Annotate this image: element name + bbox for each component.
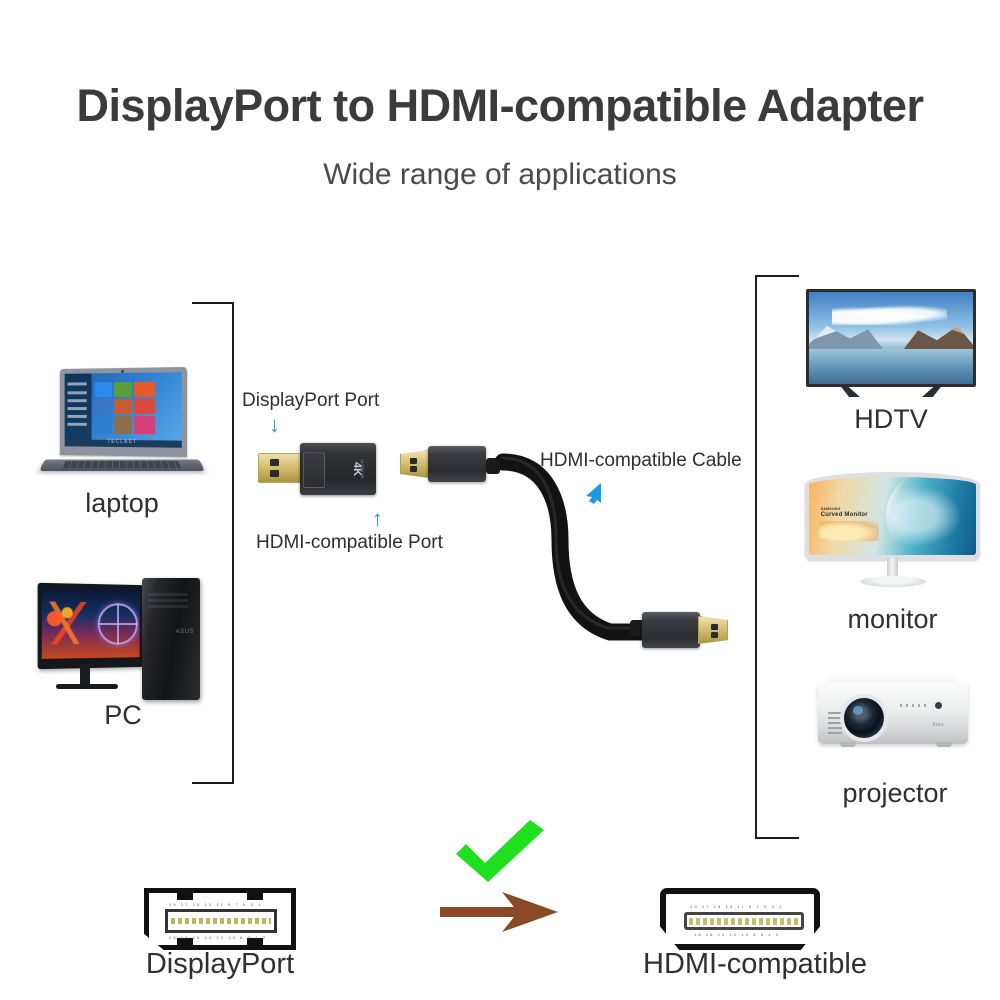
hdmi-plug-strain-relief-upper bbox=[486, 458, 500, 474]
projector-image: data bbox=[818, 672, 970, 758]
hdmi-port-up-arrow-icon: ↑ bbox=[372, 508, 383, 530]
dp-port-down-arrow-icon: ↓ bbox=[269, 414, 280, 436]
hdmi-bottom-pin-numbers: 18 16 14 12 10 8 6 4 2 bbox=[694, 932, 780, 937]
curved-monitor-image: SAMSUNG Curved Monitor bbox=[805, 472, 980, 590]
curved-monitor-screen-brand: SAMSUNG Curved Monitor bbox=[821, 507, 868, 520]
hdtv-screen-clouds bbox=[832, 305, 947, 325]
projector-body: data bbox=[818, 682, 968, 744]
adapter-body: 4K ULTRA HD bbox=[300, 443, 376, 495]
curved-monitor-screen: SAMSUNG Curved Monitor bbox=[809, 477, 976, 555]
laptop-start-tiles bbox=[94, 382, 155, 434]
laptop-image: TECLAST bbox=[42, 368, 202, 488]
projector-ir-sensor-icon bbox=[935, 702, 942, 709]
pc-screen-coaster bbox=[44, 601, 92, 644]
hdmi-plug-gold-contacts-lower bbox=[698, 616, 728, 644]
laptop-lid: TECLAST bbox=[60, 367, 187, 457]
adapter-displayport-male-plug bbox=[258, 453, 304, 483]
projector-indicator-leds bbox=[900, 704, 928, 707]
pc-monitor bbox=[38, 583, 144, 669]
pc-tower: ASUS bbox=[142, 578, 200, 700]
monitor-label: monitor bbox=[805, 604, 980, 635]
pc-label: PC bbox=[38, 700, 208, 731]
displayport-pins bbox=[171, 918, 271, 924]
laptop-keyboard-base bbox=[39, 459, 205, 471]
curved-monitor-screen-sunset bbox=[819, 521, 879, 541]
projector-foot-right bbox=[936, 742, 952, 747]
pc-image: ASUS bbox=[38, 578, 208, 703]
hdtv-screen-lake bbox=[809, 349, 973, 384]
laptop-start-menu-sidebar bbox=[65, 373, 92, 440]
displayport-pin-housing bbox=[165, 909, 277, 933]
dp-notch-top-left bbox=[177, 893, 193, 900]
hdmi-top-pin-numbers: 19 17 15 13 11 9 7 5 3 1 bbox=[690, 904, 783, 909]
hdtv-screen-mountain-left bbox=[809, 323, 884, 351]
laptop-label: laptop bbox=[42, 488, 202, 519]
hdmi-pin-housing bbox=[684, 912, 804, 930]
hdmi-cable-label: HDMI-compatible Cable bbox=[540, 450, 742, 472]
hdmi-port-label: HDMI-compatible Port bbox=[256, 532, 443, 554]
projector-foot-left bbox=[840, 742, 856, 747]
projector-label: projector bbox=[800, 778, 990, 809]
curved-monitor-brand-line1: SAMSUNG bbox=[821, 507, 868, 512]
pc-screen-ferris-wheel bbox=[98, 603, 138, 645]
projector-brand: data bbox=[933, 722, 944, 728]
displayport-connector-shape: 19 17 15 13 11 9 7 5 3 1 20 18 16 14 12 … bbox=[144, 888, 296, 950]
curved-monitor-foot bbox=[860, 576, 926, 587]
laptop-screen bbox=[65, 372, 182, 448]
pc-monitor-foot bbox=[56, 684, 118, 689]
dp-bottom-pin-numbers: 20 18 16 14 12 10 8 6 4 2 bbox=[169, 935, 267, 940]
hdmi-plug-shell-upper bbox=[428, 446, 486, 482]
laptop-keys bbox=[63, 461, 180, 468]
curved-monitor-frame: SAMSUNG Curved Monitor bbox=[805, 472, 980, 560]
check-mark-icon bbox=[452, 818, 548, 884]
curved-monitor-screen-wave bbox=[886, 477, 976, 555]
laptop-brand-logo: TECLAST bbox=[107, 439, 136, 445]
dp-notch-top-right bbox=[247, 893, 263, 900]
pc-tower-brand: ASUS bbox=[176, 629, 194, 635]
projector-lens bbox=[844, 698, 884, 738]
hdmi-pins bbox=[689, 918, 799, 925]
adapter-ultrahd-mark: ULTRA HD bbox=[360, 459, 365, 478]
hdtv-frame bbox=[806, 289, 976, 387]
hdtv-screen-mountain-right bbox=[901, 321, 973, 352]
curved-monitor-brand-line2: Curved Monitor bbox=[821, 512, 868, 518]
hdmi-connector-shape: 19 17 15 13 11 9 7 5 3 1 18 16 14 12 10 … bbox=[660, 888, 820, 950]
hdmi-connector-label: HDMI-compatible bbox=[610, 948, 900, 981]
display-group-bracket bbox=[755, 275, 799, 839]
page-subtitle: Wide range of applications bbox=[0, 158, 1000, 192]
hdmi-plug-shell-lower bbox=[642, 612, 700, 648]
pc-monitor-stand bbox=[80, 664, 90, 686]
hdtv-label: HDTV bbox=[806, 404, 976, 435]
page-title: DisplayPort to HDMI-compatible Adapter bbox=[0, 80, 1000, 132]
pc-monitor-screen bbox=[42, 587, 140, 659]
hdtv-image bbox=[806, 289, 976, 399]
infographic-page: DisplayPort to HDMI-compatible Adapter W… bbox=[0, 0, 1000, 1000]
cable-pointer-arrow-icon bbox=[586, 483, 601, 504]
right-arrow-icon bbox=[440, 890, 560, 934]
projector-vent bbox=[828, 712, 842, 734]
displayport-connector-label: DisplayPort bbox=[110, 948, 330, 981]
hdtv-screen bbox=[809, 292, 973, 384]
hdmi-plug-gold-contacts-upper bbox=[400, 450, 430, 478]
dp-top-pin-numbers: 19 17 15 13 11 9 7 5 3 1 bbox=[169, 902, 262, 907]
displayport-port-label: DisplayPort Port bbox=[242, 390, 379, 412]
